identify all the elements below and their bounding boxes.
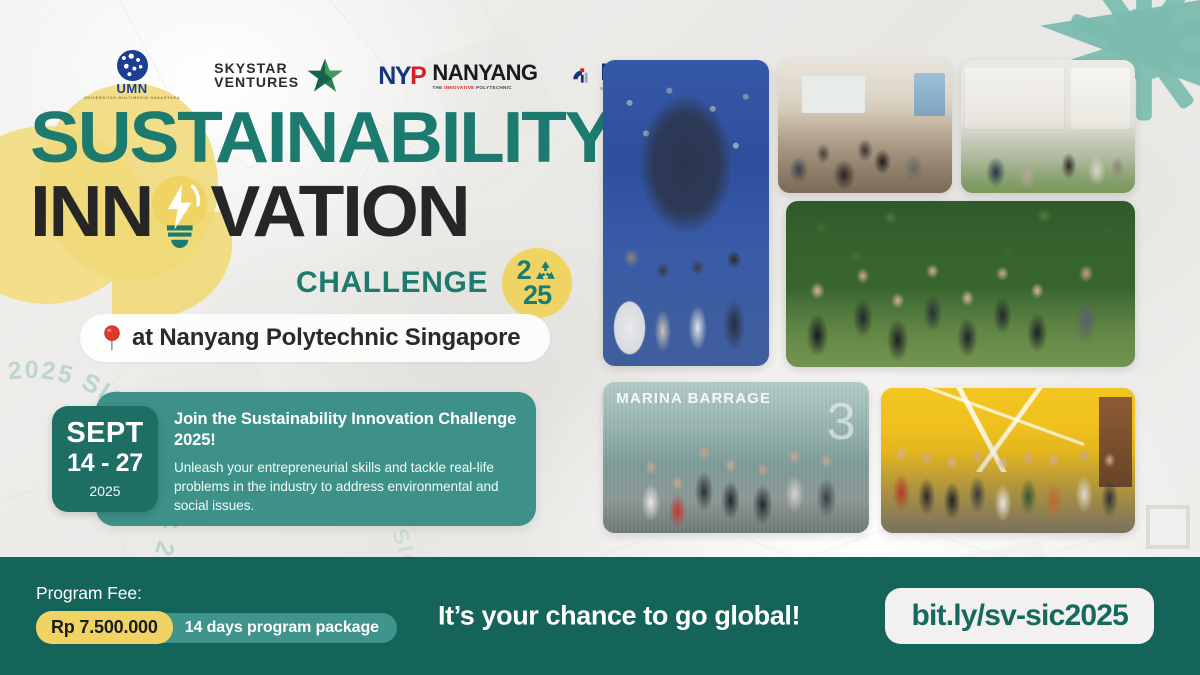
umn-abbr: UMN — [117, 82, 148, 95]
photo-group-greenery — [786, 201, 1135, 367]
marina-barrage-number: 3 — [827, 402, 856, 444]
challenge-label: CHALLENGE — [296, 266, 488, 300]
map-pin-icon — [102, 325, 122, 351]
nyp-wordmark: NANYANG — [432, 62, 537, 84]
program-fee-block: Program Fee: Rp 7.500.000 14 days progra… — [36, 583, 397, 644]
nyp-p: P — [410, 62, 425, 90]
headline-line-sustainability: SUSTAINABILITY — [30, 108, 612, 170]
date-badge: SEPT 14 - 27 2025 — [52, 406, 158, 512]
registration-link[interactable]: bit.ly/sv-sic2025 — [885, 588, 1154, 644]
nyp-y: Y — [395, 62, 410, 90]
date-days: 14 - 27 — [67, 450, 143, 478]
decor-square-outline — [1146, 505, 1190, 549]
photo-classroom-workshop — [778, 60, 952, 193]
headline-line-innovation: INN VATION — [30, 174, 612, 252]
photo-exhibition-booth — [961, 60, 1135, 193]
skystar-line2: VENTURES — [214, 76, 299, 90]
nyp-monogram: NYP — [378, 64, 425, 89]
headline-block: SUSTAINABILITY INN VATION — [30, 108, 590, 252]
nyp-tagline: THE INNOVATIVE POLYTECHNIC — [432, 86, 537, 91]
marina-barrage-label: MARINA BARRAGE — [616, 390, 771, 407]
year-badge-2025: 2 25 — [502, 248, 572, 318]
star-icon — [306, 57, 344, 95]
photo-museum-tunnel-tour — [603, 60, 769, 366]
bottom-banner: Program Fee: Rp 7.500.000 14 days progra… — [0, 557, 1200, 675]
location-pill[interactable]: at Nanyang Polytechnic Singapore — [80, 314, 550, 362]
photo-yellow-wall-group — [881, 388, 1135, 533]
info-card-description: Unleash your entrepreneurial skills and … — [174, 458, 520, 516]
date-month: SEPT — [66, 419, 143, 448]
headline-vation: VATION — [210, 182, 468, 244]
lightbulb-icon — [148, 172, 212, 250]
program-fee-amount: Rp 7.500.000 — [36, 611, 173, 644]
challenge-row: CHALLENGE 2 25 — [296, 248, 572, 318]
date-year: 2025 — [89, 483, 120, 499]
program-fee-package: 14 days program package — [159, 613, 397, 643]
logo-nanyang-polytechnic: NYP NANYANG THE INNOVATIVE POLYTECHNIC — [378, 62, 537, 91]
partner-logo-row: UMN UNIVERSITAS MULTIMEDIA NUSANTARA SKY… — [84, 52, 689, 100]
banner-tagline: It’s your chance to go global! — [438, 601, 800, 632]
event-info-card: SEPT 14 - 27 2025 Join the Sustainabilit… — [96, 392, 536, 526]
logo-umn: UMN UNIVERSITAS MULTIMEDIA NUSANTARA — [84, 50, 180, 101]
location-text: at Nanyang Polytechnic Singapore — [132, 324, 520, 352]
headline-inn: INN — [30, 182, 152, 244]
poster-root: SIC 2025 SIC 2025 SIC 2025 SIC 2025 SIC … — [0, 0, 1200, 675]
program-fee-label: Program Fee: — [36, 583, 397, 604]
nyp-n: N — [378, 62, 395, 90]
mmu-mark-icon — [571, 65, 593, 87]
info-card-title: Join the Sustainability Innovation Chall… — [174, 409, 520, 451]
badge-digits-25: 25 — [523, 284, 551, 308]
umn-dot-icon — [117, 50, 148, 81]
photo-marina-barrage-group: MARINA BARRAGE 3 — [603, 382, 869, 533]
logo-skystar-ventures: SKYSTAR VENTURES — [214, 57, 344, 95]
